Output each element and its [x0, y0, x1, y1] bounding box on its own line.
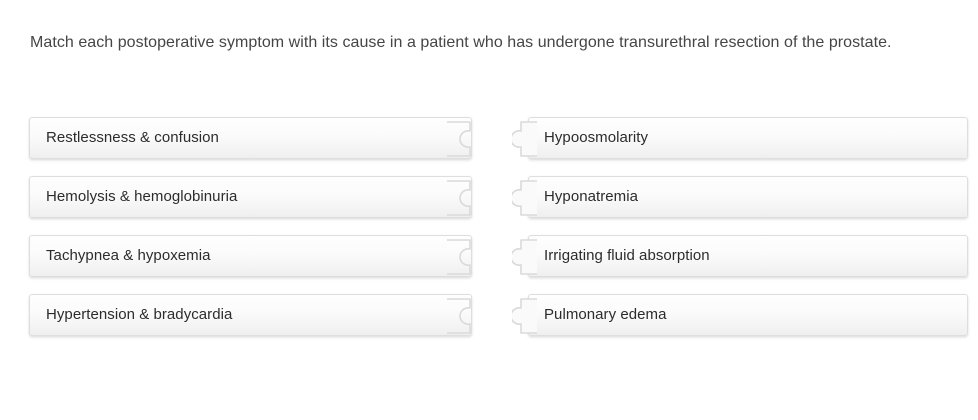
puzzle-notch-icon: [446, 298, 472, 334]
puzzle-notch-icon: [446, 121, 472, 157]
puzzle-tab-icon: [512, 180, 538, 216]
symptom-label: Tachypnea & hypoxemia: [46, 246, 210, 266]
cause-label: Hypoosmolarity: [544, 128, 648, 148]
symptom-card[interactable]: Restlessness & confusion: [29, 117, 472, 159]
match-row: Hemolysis & hemoglobinuria Hyponatremia: [0, 176, 978, 218]
symptom-label: Hemolysis & hemoglobinuria: [46, 187, 237, 207]
puzzle-notch-icon: [446, 180, 472, 216]
cause-label: Irrigating fluid absorption: [544, 246, 710, 266]
puzzle-tab-icon: [512, 298, 538, 334]
puzzle-notch-icon: [446, 239, 472, 275]
symptom-card[interactable]: Hemolysis & hemoglobinuria: [29, 176, 472, 218]
matching-question-page: Match each postoperative symptom with it…: [0, 0, 978, 420]
puzzle-tab-icon: [512, 121, 538, 157]
matching-board: Restlessness & confusion Hypoosmolarity: [0, 117, 978, 353]
match-row: Restlessness & confusion Hypoosmolarity: [0, 117, 978, 159]
cause-card[interactable]: Hyponatremia: [528, 176, 968, 218]
cause-label: Hyponatremia: [544, 187, 638, 207]
symptom-card[interactable]: Tachypnea & hypoxemia: [29, 235, 472, 277]
cause-label: Pulmonary edema: [544, 305, 666, 325]
cause-card[interactable]: Hypoosmolarity: [528, 117, 968, 159]
question-prompt: Match each postoperative symptom with it…: [30, 30, 946, 55]
symptom-card[interactable]: Hypertension & bradycardia: [29, 294, 472, 336]
match-row: Tachypnea & hypoxemia Irrigating fluid a…: [0, 235, 978, 277]
puzzle-tab-icon: [512, 239, 538, 275]
cause-card[interactable]: Irrigating fluid absorption: [528, 235, 968, 277]
cause-card[interactable]: Pulmonary edema: [528, 294, 968, 336]
symptom-label: Restlessness & confusion: [46, 128, 219, 148]
match-row: Hypertension & bradycardia Pulmonary ede…: [0, 294, 978, 336]
symptom-label: Hypertension & bradycardia: [46, 305, 232, 325]
